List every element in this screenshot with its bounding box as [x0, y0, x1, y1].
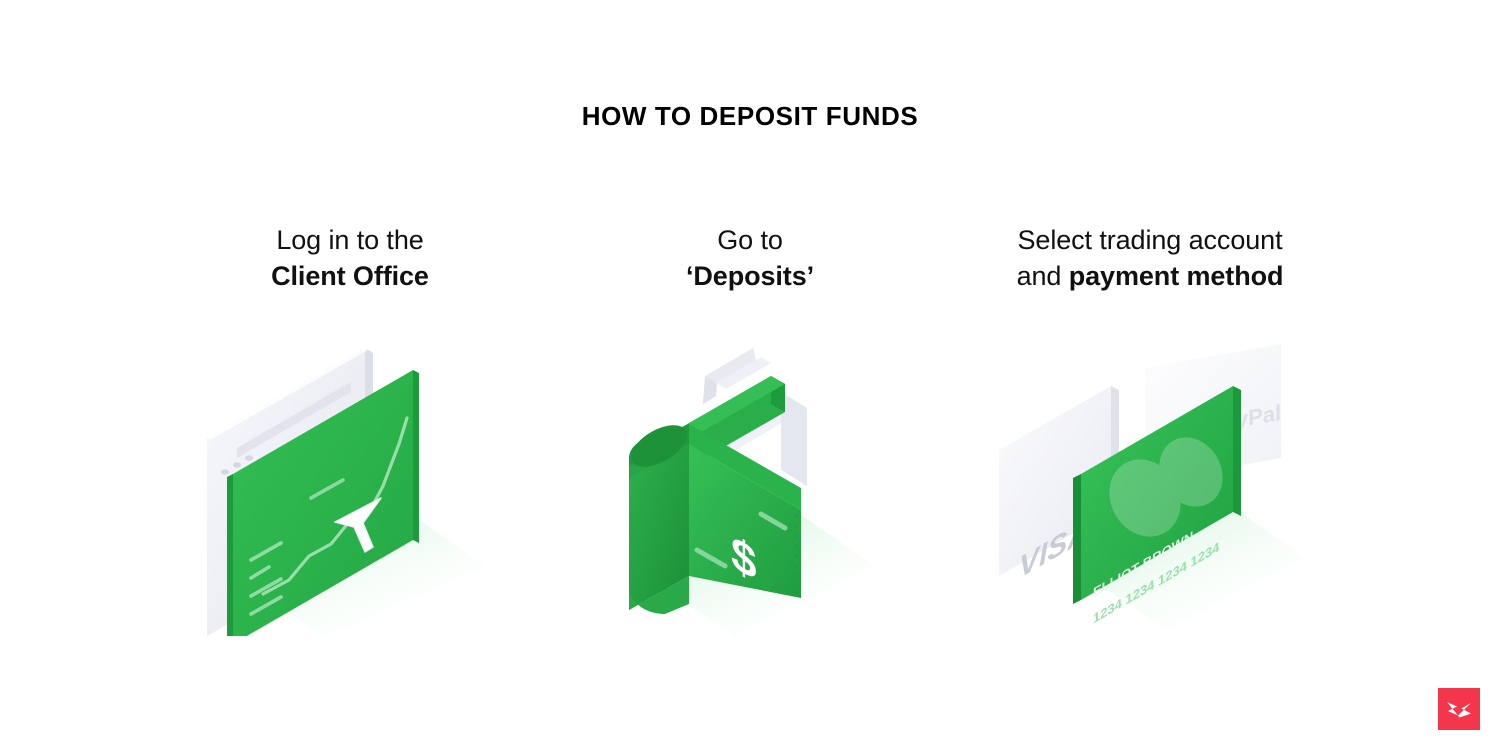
step-3-line-2-strong: payment method — [1069, 261, 1284, 291]
step-3-line-2-prefix: and — [1017, 261, 1069, 291]
x-mark-icon — [1444, 694, 1474, 724]
step-3-heading: Select trading account and payment metho… — [1017, 222, 1284, 294]
step-1-heading: Log in to the Client Office — [271, 222, 429, 294]
step-3-line-1: Select trading account — [1017, 222, 1284, 258]
xm-logo[interactable] — [1438, 688, 1480, 730]
step-1: Log in to the Client Office — [150, 222, 550, 636]
step-1-line-1: Log in to the — [271, 222, 429, 258]
step-1-illustration — [185, 326, 515, 636]
step-2-line-2: ‘Deposits’ — [686, 258, 814, 294]
step-3-line-2: and payment method — [1017, 258, 1284, 294]
step-1-line-2: Client Office — [271, 258, 429, 294]
step-3-illustration: PayPal VISA — [985, 326, 1315, 636]
steps-container: Log in to the Client Office — [150, 222, 1350, 636]
step-2-heading: Go to ‘Deposits’ — [686, 222, 814, 294]
step-2-illustration: $ — [585, 326, 915, 636]
step-2-line-1: Go to — [686, 222, 814, 258]
step-2: Go to ‘Deposits’ — [550, 222, 950, 636]
page-root: HOW TO DEPOSIT FUNDS Log in to the Clien… — [0, 0, 1500, 744]
step-3: Select trading account and payment metho… — [950, 222, 1350, 636]
page-title: HOW TO DEPOSIT FUNDS — [0, 99, 1500, 133]
